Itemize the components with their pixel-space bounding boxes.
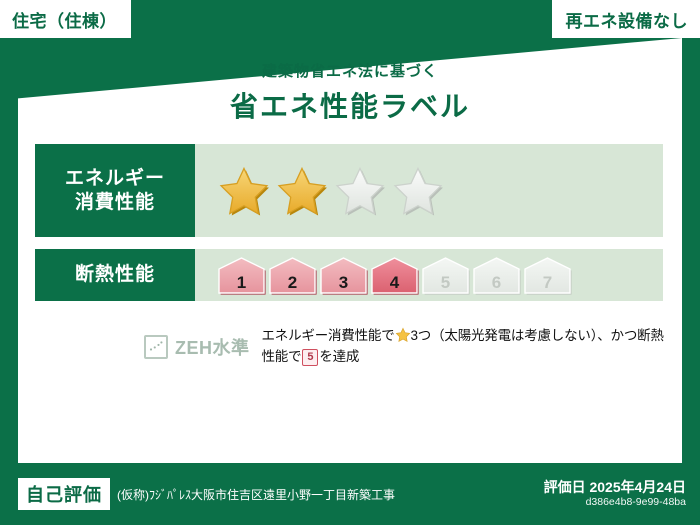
footer-bar: 自己評価 (仮称)ﾌｼﾞﾊﾟﾚｽ大阪市住吉区遠里小野一丁目新築工事 評価日 20… [0, 463, 700, 525]
renewable-equipment-tag: 再エネ設備なし [552, 0, 700, 38]
insulation-grade-1: 1 [217, 255, 266, 295]
star-empty-icon [333, 165, 387, 217]
label-content: 建築物省エネ法に基づく 省エネ性能ラベル エネルギー 消費性能 断熱性能 123… [18, 38, 682, 463]
insulation-grade-number: 1 [237, 274, 246, 295]
zeh-desc-part3: を達成 [319, 349, 359, 364]
energy-label-line1: エネルギー [65, 167, 165, 191]
self-evaluation-badge: 自己評価 [18, 478, 110, 510]
renewable-equipment-tag-label: 再エネ設備なし [566, 7, 689, 32]
insulation-grade-4: 4 [370, 255, 419, 295]
evaluation-id: d386e4b8-9e99-48ba [544, 496, 686, 509]
energy-performance-row: エネルギー 消費性能 [34, 143, 664, 238]
energy-label-line2: 消費性能 [75, 191, 155, 215]
star-filled-icon [217, 165, 271, 217]
energy-performance-label: エネルギー 消費性能 [35, 144, 195, 237]
insulation-grade-3: 3 [319, 255, 368, 295]
insulation-grade-5: 5 [421, 255, 470, 295]
zeh-desc-part1: エネルギー消費性能で [262, 328, 395, 343]
insulation-grade-number: 4 [390, 274, 399, 295]
insulation-grade-scale: 1234567 [217, 255, 572, 295]
star-filled-icon [275, 165, 329, 217]
zeh-badge-label: ZEH水準 [175, 334, 250, 360]
dwelling-type-tag-label: 住宅（住棟） [12, 7, 117, 32]
evaluation-date: 評価日 2025年4月24日 [544, 479, 686, 497]
solar-panel-icon [144, 335, 168, 359]
insulation-grade-number: 5 [441, 274, 450, 295]
insulation-grade-number: 7 [543, 274, 552, 295]
zeh-desc-grade-chip: 5 [302, 349, 318, 366]
dwelling-type-tag: 住宅（住棟） [0, 0, 131, 38]
insulation-performance-value: 1234567 [195, 249, 663, 301]
insulation-performance-row: 断熱性能 1234567 [34, 248, 664, 302]
insulation-grade-number: 6 [492, 274, 501, 295]
title-main: 省エネ性能ラベル [18, 85, 682, 125]
insulation-grade-number: 3 [339, 274, 348, 295]
insulation-grade-7: 7 [523, 255, 572, 295]
evaluation-meta: 評価日 2025年4月24日 d386e4b8-9e99-48ba [544, 479, 686, 510]
star-empty-icon [391, 165, 445, 217]
inline-star-icon [395, 327, 411, 343]
energy-performance-value [195, 144, 663, 237]
insulation-grade-number: 2 [288, 274, 297, 295]
insulation-grade-2: 2 [268, 255, 317, 295]
insulation-grade-6: 6 [472, 255, 521, 295]
zeh-standard-note: ZEH水準 エネルギー消費性能で3つ（太陽光発電は考慮しない）、かつ断熱性能で5… [34, 326, 664, 368]
star-rating [217, 165, 445, 217]
page-title: 建築物省エネ法に基づく 省エネ性能ラベル [18, 60, 682, 125]
insulation-performance-label: 断熱性能 [35, 249, 195, 301]
zeh-badge: ZEH水準 [144, 334, 250, 360]
title-subtitle: 建築物省エネ法に基づく [18, 60, 682, 81]
project-name: (仮称)ﾌｼﾞﾊﾟﾚｽ大阪市住吉区遠里小野一丁目新築工事 [117, 486, 544, 503]
zeh-description: エネルギー消費性能で3つ（太陽光発電は考慮しない）、かつ断熱性能で5を達成 [262, 326, 665, 368]
energy-performance-label: 住宅（住棟） 再エネ設備なし 建築物省エネ法に基づく 省エネ性能ラベル エネルギ… [0, 0, 700, 525]
insulation-label-line1: 断熱性能 [75, 263, 155, 287]
